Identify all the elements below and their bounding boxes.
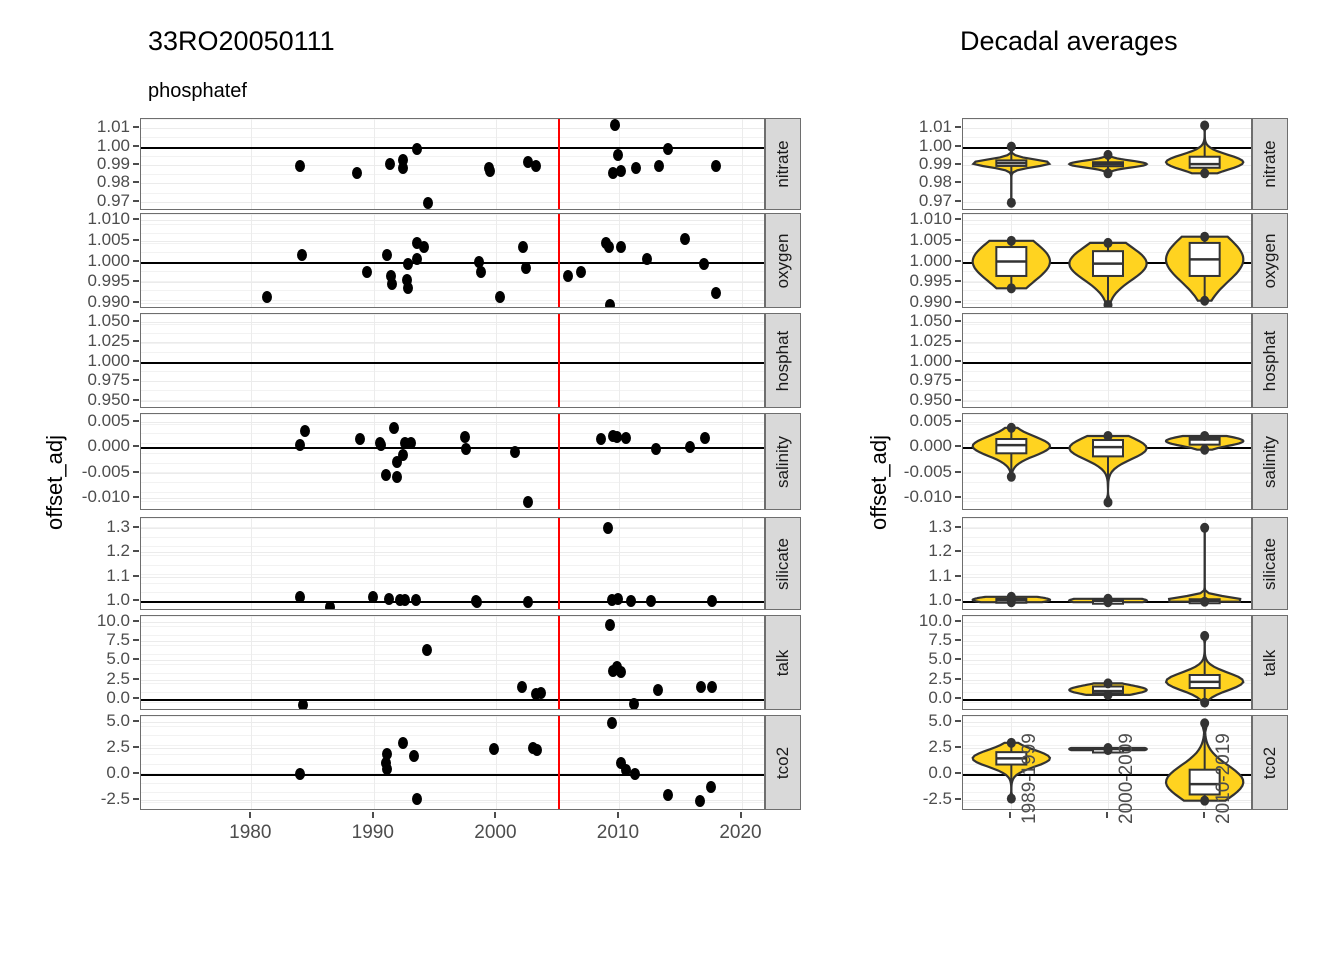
grid-line <box>141 300 764 301</box>
y-tick-label: 0.98 <box>97 172 130 192</box>
grid-line <box>141 443 764 444</box>
grid-line <box>141 802 764 803</box>
left-facet-panel-nitrate <box>140 118 765 210</box>
y-tick-label: 0.0 <box>106 763 130 783</box>
reference-line <box>141 774 764 776</box>
reference-line <box>141 699 764 701</box>
y-tick-label: -2.5 <box>923 789 952 809</box>
grid-line <box>141 546 764 547</box>
right-strip-silicate: silicate <box>1252 517 1288 610</box>
left-strip-nitrate: nitrate <box>765 118 801 210</box>
left-panel-subtitle: phosphatef <box>148 80 247 103</box>
outlier-point <box>1104 690 1113 700</box>
left-facet-panel-salinity <box>140 413 765 510</box>
grid-line <box>619 119 620 209</box>
left-strip-oxygen: oxygen <box>765 213 801 308</box>
reference-line <box>141 362 764 364</box>
grid-line <box>619 214 620 307</box>
y-tick-label: 1.1 <box>106 566 130 586</box>
cruise-year-marker <box>558 518 560 609</box>
grid-line <box>141 683 764 684</box>
y-tick <box>133 526 139 528</box>
grid-line-major <box>141 622 764 623</box>
data-point <box>651 443 661 455</box>
data-point <box>387 278 397 290</box>
grid-line-major <box>141 498 764 499</box>
data-point <box>355 433 365 445</box>
y-tick <box>955 399 961 401</box>
y-tick-label: 7.5 <box>928 630 952 650</box>
grid-line <box>141 214 764 215</box>
grid-line <box>496 414 497 509</box>
grid-line <box>141 463 764 464</box>
grid-line <box>141 290 764 291</box>
grid-line <box>251 214 252 307</box>
y-tick <box>955 746 961 748</box>
y-tick <box>955 301 961 303</box>
y-tick <box>133 126 139 128</box>
grid-line <box>141 119 764 120</box>
grid-line <box>496 119 497 209</box>
y-tick <box>133 360 139 362</box>
y-tick <box>133 471 139 473</box>
grid-line <box>141 137 764 138</box>
cruise-year-marker <box>558 414 560 509</box>
y-tick <box>133 720 139 722</box>
y-tick-label: 10.0 <box>97 611 130 631</box>
y-tick <box>955 360 961 362</box>
outlier-point <box>1200 120 1209 130</box>
data-point <box>605 299 615 308</box>
grid-line <box>141 754 764 755</box>
data-point <box>300 425 310 437</box>
y-tick-label: 2.5 <box>106 737 130 757</box>
outlier-point <box>1104 497 1113 507</box>
outlier-point <box>1104 678 1113 688</box>
data-point <box>612 431 622 443</box>
x-tick <box>1203 812 1205 818</box>
reference-line <box>141 447 764 449</box>
x-tick <box>1106 812 1108 818</box>
grid-line <box>374 616 375 709</box>
grid-line <box>141 626 764 627</box>
grid-line <box>141 324 764 325</box>
y-tick <box>133 163 139 165</box>
left-strip-hosphat: hosphat <box>765 313 801 408</box>
y-tick <box>133 798 139 800</box>
data-point <box>510 446 520 458</box>
grid-line <box>141 702 764 703</box>
strip-label: nitrate <box>773 140 793 187</box>
outlier-point <box>1007 738 1016 748</box>
x-tick <box>617 812 619 818</box>
grid-line <box>141 433 764 434</box>
cruise-year-marker <box>558 314 560 407</box>
grid-line <box>141 654 764 655</box>
data-point <box>613 593 623 605</box>
grid-line-major <box>141 552 764 553</box>
data-point <box>295 160 305 172</box>
outlier-point <box>1200 718 1209 728</box>
y-tick-label: 10.0 <box>919 611 952 631</box>
cruise-year-marker <box>558 616 560 709</box>
grid-line-major <box>141 303 764 304</box>
y-tick <box>955 239 961 241</box>
data-point <box>403 282 413 294</box>
outlier-point <box>1200 232 1209 242</box>
grid-line <box>251 518 252 609</box>
left-facet-panel-talk <box>140 615 765 710</box>
y-tick <box>133 145 139 147</box>
grid-line <box>141 252 764 253</box>
grid-line <box>141 716 764 717</box>
data-point <box>384 593 394 605</box>
grid-line <box>141 224 764 225</box>
right-facet-panel-hosphat <box>962 313 1252 408</box>
boxplot-box <box>1190 157 1220 168</box>
y-tick-label: 1.0 <box>928 590 952 610</box>
data-point <box>613 149 623 161</box>
grid-line <box>141 583 764 584</box>
data-point <box>531 160 541 172</box>
grid-line-major <box>141 473 764 474</box>
y-tick <box>133 599 139 601</box>
y-tick <box>955 163 961 165</box>
grid-line-major <box>141 401 764 402</box>
grid-line <box>141 537 764 538</box>
y-tick-label: 0.0 <box>928 688 952 708</box>
outlier-point <box>1200 631 1209 641</box>
y-tick-label: 1.050 <box>909 311 952 331</box>
data-point <box>630 768 640 780</box>
grid-line <box>141 174 764 175</box>
grid-line <box>374 414 375 509</box>
grid-line-major <box>141 722 764 723</box>
grid-line <box>141 783 764 784</box>
strip-label: oxygen <box>1260 233 1280 288</box>
y-tick <box>133 379 139 381</box>
data-point <box>563 270 573 282</box>
grid-line <box>742 716 743 809</box>
y-tick-label: 1.010 <box>87 209 130 229</box>
y-tick <box>133 181 139 183</box>
left-facet-panel-hosphat <box>140 313 765 408</box>
right-strip-hosphat: hosphat <box>1252 313 1288 408</box>
data-point <box>521 262 531 274</box>
left-strip-salinity: salinity <box>765 413 801 510</box>
y-tick-label: 1.005 <box>909 230 952 250</box>
right-panel-title: Decadal averages <box>960 26 1178 57</box>
data-point <box>389 422 399 434</box>
y-tick <box>133 280 139 282</box>
y-tick <box>133 620 139 622</box>
x-tick-label: 2000 <box>474 822 516 844</box>
y-tick <box>955 260 961 262</box>
data-point <box>631 162 641 174</box>
right-facet-panel-nitrate <box>962 118 1252 210</box>
y-tick-label: 0.99 <box>97 154 130 174</box>
right-strip-nitrate: nitrate <box>1252 118 1288 210</box>
y-tick <box>133 218 139 220</box>
y-tick-label: 0.995 <box>87 271 130 291</box>
outlier-point <box>1200 168 1209 178</box>
y-tick-label: 0.995 <box>909 271 952 291</box>
y-tick-label: 1.3 <box>928 517 952 537</box>
y-tick <box>955 445 961 447</box>
y-tick <box>133 260 139 262</box>
y-tick <box>955 145 961 147</box>
grid-line-major <box>141 322 764 323</box>
violin-group <box>963 119 1252 210</box>
right-facet-panel-oxygen <box>962 213 1252 308</box>
grid-line <box>374 716 375 809</box>
data-point <box>699 258 709 270</box>
grid-line <box>251 414 252 509</box>
y-tick-label: 1.010 <box>909 209 952 229</box>
outlier-point <box>1104 150 1113 160</box>
data-point <box>653 684 663 696</box>
data-point <box>398 449 408 461</box>
x-tick-label: 2020 <box>719 822 761 844</box>
grid-line <box>141 501 764 502</box>
grid-line-major <box>141 641 764 642</box>
data-point <box>352 167 362 179</box>
strip-label: salinity <box>1260 436 1280 488</box>
y-tick-label: 2.5 <box>928 737 952 757</box>
grid-line <box>251 119 252 209</box>
grid-line <box>141 333 764 334</box>
left-strip-tco2: tco2 <box>765 715 801 810</box>
y-tick <box>955 658 961 660</box>
y-tick-label: 1.01 <box>919 117 952 137</box>
outlier-point <box>1200 296 1209 306</box>
violin-group <box>963 716 1252 810</box>
y-tick-label: -2.5 <box>101 789 130 809</box>
grid-line <box>141 574 764 575</box>
x-tick-label: 1980 <box>229 822 271 844</box>
strip-label: salinity <box>773 436 793 488</box>
grid-line <box>141 453 764 454</box>
outlier-point <box>1104 431 1113 441</box>
violin-group <box>963 314 1252 408</box>
grid-line <box>141 735 764 736</box>
y-tick <box>133 496 139 498</box>
data-point <box>603 522 613 534</box>
right-facet-panel-talk <box>962 615 1252 710</box>
left-facet-panel-tco2 <box>140 715 765 810</box>
outlier-point <box>1200 698 1209 708</box>
grid-line-major <box>141 202 764 203</box>
data-point <box>409 750 419 762</box>
outlier-point <box>1200 445 1209 455</box>
strip-label: talk <box>773 649 793 675</box>
data-point <box>495 291 505 303</box>
data-point <box>695 795 705 807</box>
grid-line <box>141 518 764 519</box>
y-tick-label: 2.5 <box>928 669 952 689</box>
y-tick-label: 5.0 <box>928 711 952 731</box>
strip-label: hosphat <box>773 330 793 391</box>
grid-line <box>742 414 743 509</box>
grid-line <box>742 214 743 307</box>
y-tick <box>955 320 961 322</box>
y-tick-label: 0.975 <box>909 370 952 390</box>
data-point <box>646 595 656 607</box>
grid-line <box>141 156 764 157</box>
right-strip-salinity: salinity <box>1252 413 1288 510</box>
data-point <box>325 601 335 610</box>
y-tick-label: 1.000 <box>909 351 952 371</box>
data-point <box>412 253 422 265</box>
y-tick-label: 0.98 <box>919 172 952 192</box>
y-tick <box>133 301 139 303</box>
grid-line-major <box>141 241 764 242</box>
violin-group <box>963 414 1252 510</box>
violin-group <box>963 518 1252 610</box>
grid-line <box>141 616 764 617</box>
data-point <box>700 432 710 444</box>
y-tick-label: -0.010 <box>82 487 130 507</box>
data-point <box>382 249 392 261</box>
y-tick <box>955 639 961 641</box>
y-tick <box>955 550 961 552</box>
outlier-point <box>1200 796 1209 806</box>
y-tick <box>955 798 961 800</box>
y-tick-label: 1.0 <box>106 590 130 610</box>
data-point <box>295 768 305 780</box>
grid-line <box>141 664 764 665</box>
strip-label: silicate <box>1260 538 1280 590</box>
y-tick <box>133 550 139 552</box>
grid-line <box>742 616 743 709</box>
x-tick <box>494 812 496 818</box>
grid-line-major <box>141 282 764 283</box>
y-tick-label: 0.97 <box>97 191 130 211</box>
y-tick <box>955 697 961 699</box>
right-facet-panel-silicate <box>962 517 1252 610</box>
strip-label: talk <box>1260 649 1280 675</box>
y-tick-label: 0.0 <box>106 688 130 708</box>
y-tick-label: 1.00 <box>919 136 952 156</box>
data-point <box>605 619 615 631</box>
y-tick <box>133 200 139 202</box>
reference-line <box>141 601 764 603</box>
data-point <box>382 763 392 775</box>
left-facet-panel-silicate <box>140 517 765 610</box>
outlier-point <box>1104 743 1113 753</box>
grid-line <box>742 314 743 407</box>
y-tick <box>955 471 961 473</box>
y-tick-label: -0.005 <box>904 462 952 482</box>
y-tick <box>133 239 139 241</box>
y-tick-label: 5.0 <box>106 649 130 669</box>
y-tick <box>955 496 961 498</box>
data-point <box>422 644 432 656</box>
grid-line-major <box>141 680 764 681</box>
grid-line-major <box>141 528 764 529</box>
y-tick <box>955 181 961 183</box>
data-point <box>406 437 416 449</box>
grid-line <box>141 193 764 194</box>
y-tick-label: 0.005 <box>87 411 130 431</box>
data-point <box>654 160 664 172</box>
data-point <box>297 249 307 261</box>
data-point <box>685 441 695 453</box>
y-tick-label: 1.1 <box>928 566 952 586</box>
outlier-point <box>1007 472 1016 482</box>
y-tick <box>133 639 139 641</box>
reference-line <box>141 262 764 264</box>
outlier-point <box>1007 423 1016 433</box>
y-tick-label: 0.950 <box>87 390 130 410</box>
y-tick <box>133 658 139 660</box>
grid-line <box>251 616 252 709</box>
outlier-point <box>1104 238 1113 248</box>
grid-line <box>141 271 764 272</box>
grid-line <box>141 482 764 483</box>
y-tick <box>955 620 961 622</box>
grid-line <box>141 233 764 234</box>
x-tick-label: 1990 <box>352 822 394 844</box>
y-tick-label: 0.975 <box>87 370 130 390</box>
grid-line-major <box>141 381 764 382</box>
y-tick-label: -0.010 <box>904 487 952 507</box>
strip-label: hosphat <box>1260 330 1280 391</box>
grid-line <box>619 414 620 509</box>
y-tick-label: 1.2 <box>106 541 130 561</box>
strip-label: silicate <box>773 538 793 590</box>
grid-line <box>141 745 764 746</box>
y-tick-label: 0.990 <box>87 292 130 312</box>
y-tick <box>955 720 961 722</box>
y-tick-label: 0.950 <box>909 390 952 410</box>
grid-line <box>496 314 497 407</box>
y-tick <box>133 445 139 447</box>
grid-line <box>496 616 497 709</box>
y-tick <box>955 420 961 422</box>
grid-line <box>141 673 764 674</box>
y-tick-label: 0.000 <box>909 436 952 456</box>
y-tick-label: 1.00 <box>97 136 130 156</box>
data-point <box>412 143 422 155</box>
y-tick-label: 1.01 <box>97 117 130 137</box>
y-tick-label: 5.0 <box>928 649 952 669</box>
data-point <box>412 793 422 805</box>
grid-line-major <box>141 128 764 129</box>
data-point <box>642 253 652 265</box>
x-tick <box>1009 812 1011 818</box>
outlier-point <box>1104 168 1113 178</box>
y-tick-label: 1.3 <box>106 517 130 537</box>
data-point <box>629 698 639 710</box>
grid-line-major <box>141 165 764 166</box>
violin-group <box>963 214 1252 308</box>
y-tick <box>133 697 139 699</box>
outlier-point <box>1007 142 1016 152</box>
outlier-point <box>1007 198 1016 208</box>
data-point <box>607 717 617 729</box>
data-point <box>368 591 378 603</box>
grid-line <box>742 518 743 609</box>
y-tick-label: -0.005 <box>82 462 130 482</box>
y-tick <box>955 200 961 202</box>
x-tick <box>372 812 374 818</box>
grid-line <box>141 492 764 493</box>
grid-line <box>141 390 764 391</box>
data-point <box>485 165 495 177</box>
data-point <box>385 158 395 170</box>
y-tick-label: 0.990 <box>909 292 952 312</box>
